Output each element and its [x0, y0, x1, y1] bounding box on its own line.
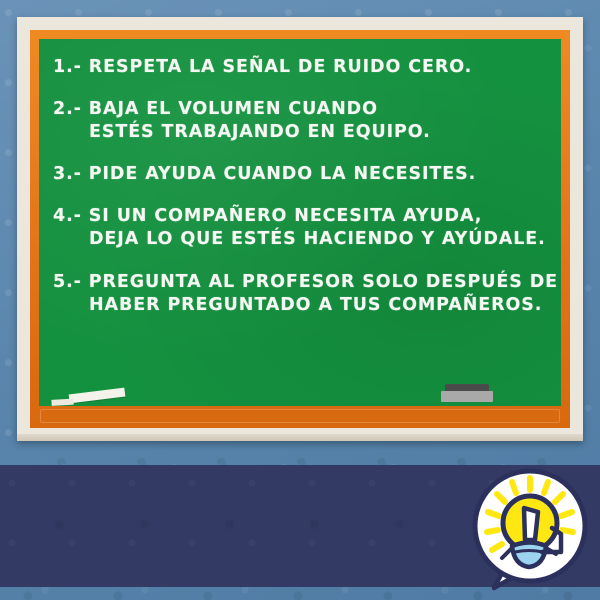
rule-5-line-2: HABER PREGUNTADO A TUS COMPAÑEROS. [53, 294, 547, 317]
rule-item-2: 2.- BAJA EL VOLUMEN CUANDO ESTÉS TRABAJA… [53, 98, 547, 144]
eraser-body [441, 391, 493, 402]
rule-2-line-1: 2.- BAJA EL VOLUMEN CUANDO [53, 98, 547, 121]
rule-item-1: 1.- RESPETA LA SEÑAL DE RUIDO CERO. [53, 56, 547, 79]
rule-1-line-1: 1.- RESPETA LA SEÑAL DE RUIDO CERO. [53, 56, 547, 79]
poster-root: 1.- RESPETA LA SEÑAL DE RUIDO CERO. 2.- … [0, 0, 600, 600]
rule-item-3: 3.- PIDE AYUDA CUANDO LA NECESITES. [53, 163, 547, 186]
chalkboard-inner-frame: 1.- RESPETA LA SEÑAL DE RUIDO CERO. 2.- … [30, 30, 570, 428]
rule-2-line-2: ESTÉS TRABAJANDO EN EQUIPO. [53, 121, 547, 144]
lightbulb-speech-bubble-logo[interactable] [468, 466, 592, 594]
rule-item-4: 4.- SI UN COMPAÑERO NECESITA AYUDA, DEJA… [53, 205, 547, 251]
board-eraser-icon [441, 384, 493, 402]
rule-item-5: 5.- PREGUNTA AL PROFESOR SOLO DESPUÉS DE… [53, 271, 547, 317]
rule-4-line-1: 4.- SI UN COMPAÑERO NECESITA AYUDA, [53, 205, 547, 228]
chalkboard: 1.- RESPETA LA SEÑAL DE RUIDO CERO. 2.- … [39, 39, 561, 406]
rule-4-line-2: DEJA LO QUE ESTÉS HACIENDO Y AYÚDALE. [53, 228, 547, 251]
chalk-stick-icon [69, 388, 126, 404]
chalkboard-outer-frame: 1.- RESPETA LA SEÑAL DE RUIDO CERO. 2.- … [17, 17, 583, 441]
rules-list: 1.- RESPETA LA SEÑAL DE RUIDO CERO. 2.- … [53, 56, 547, 317]
rule-3-line-1: 3.- PIDE AYUDA CUANDO LA NECESITES. [53, 163, 547, 186]
rule-5-line-1: 5.- PREGUNTA AL PROFESOR SOLO DESPUÉS DE [53, 271, 547, 294]
